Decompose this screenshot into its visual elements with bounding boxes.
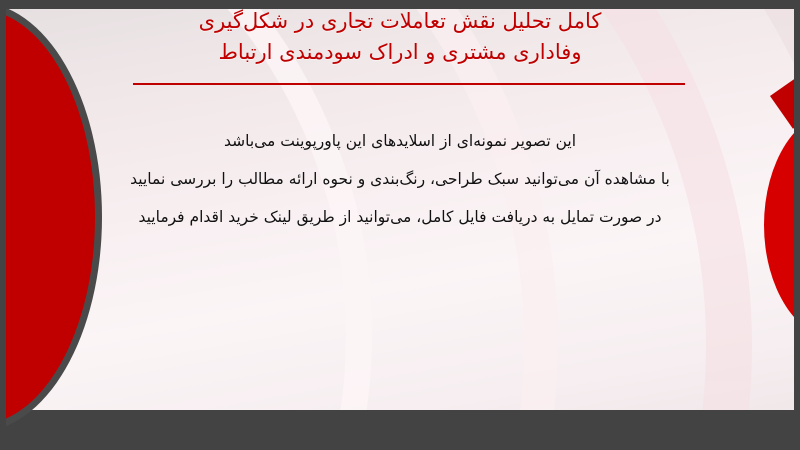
slide-body-text: این تصویر نمونه‌ای از اسلایدهای این پاور… [0, 122, 800, 236]
slide-title-line-1: کامل تحلیل نقش تعاملات تجاری در شکل‌گیری [0, 6, 800, 37]
presentation-slide: کامل تحلیل نقش تعاملات تجاری در شکل‌گیری… [0, 0, 800, 450]
body-line-2: با مشاهده آن می‌توانید سبک طراحی، رنگ‌بن… [0, 160, 800, 198]
frame-band-bottom [0, 410, 800, 450]
body-line-1: این تصویر نمونه‌ای از اسلایدهای این پاور… [0, 122, 800, 160]
body-line-3: در صورت تمایل به دریافت فایل کامل، می‌تو… [0, 198, 800, 236]
title-underline-rule [133, 83, 685, 85]
slide-title-line-2: وفاداری مشتری و ادراک سودمندی ارتباط [0, 37, 800, 68]
slide-title: کامل تحلیل نقش تعاملات تجاری در شکل‌گیری… [0, 6, 800, 68]
